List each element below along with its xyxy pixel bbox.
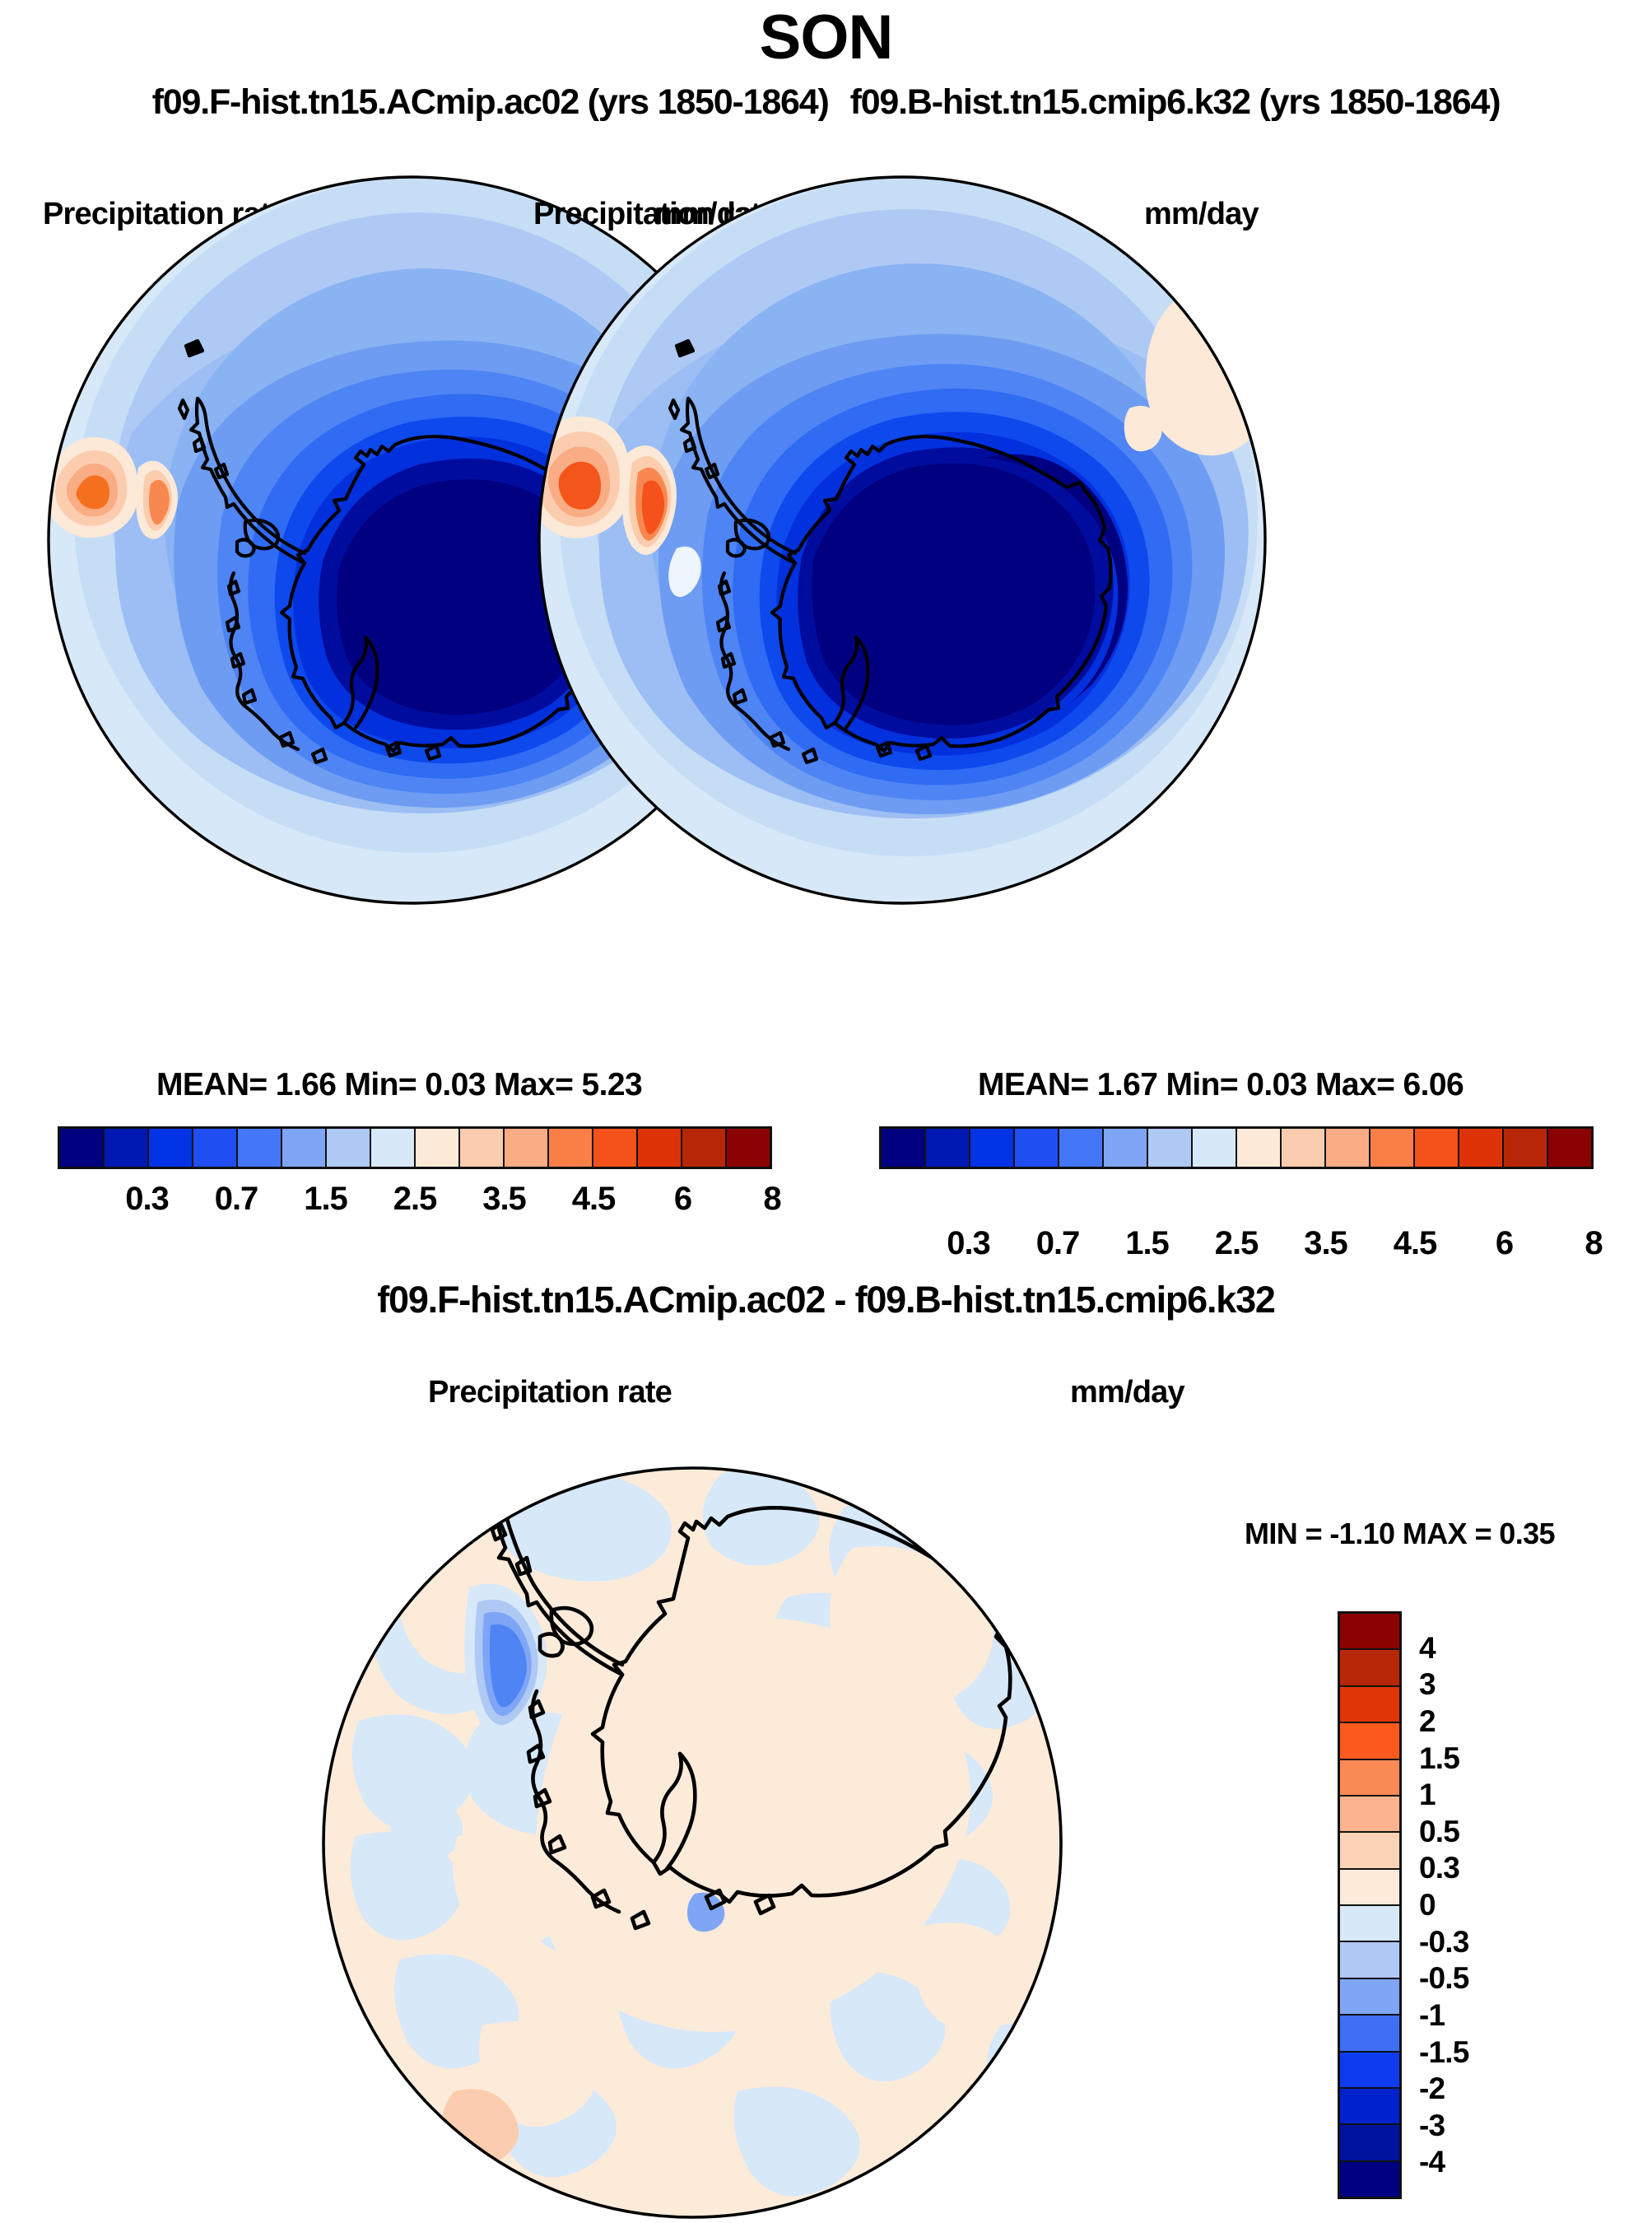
colorbar-cell bbox=[1340, 1942, 1399, 1978]
colorbar-cell bbox=[638, 1129, 682, 1167]
colorbar-tick-label: 4 bbox=[1419, 1631, 1436, 1666]
colorbar-cell bbox=[1340, 2162, 1399, 2197]
colorbar-cell bbox=[1340, 1614, 1399, 1650]
colorbar-tick-label: 0.7 bbox=[215, 1181, 258, 1218]
colorbar-cell bbox=[1340, 2016, 1399, 2052]
right-panel-stats: MEAN= 1.67 Min= 0.03 Max= 6.06 bbox=[846, 1067, 1595, 1103]
colorbar-cell bbox=[1340, 1650, 1399, 1686]
colorbar-cell bbox=[549, 1129, 593, 1167]
colorbar-cell bbox=[1415, 1129, 1459, 1167]
colorbar-cell bbox=[416, 1129, 460, 1167]
right-colorbar[interactable] bbox=[879, 1126, 1594, 1169]
colorbar-cell bbox=[371, 1129, 416, 1167]
colorbar-tick-label: 0.7 bbox=[1036, 1225, 1080, 1262]
colorbar-cell bbox=[1459, 1129, 1504, 1167]
colorbar-cell bbox=[327, 1129, 371, 1167]
colorbar-tick-label: 8 bbox=[1585, 1225, 1602, 1262]
colorbar-cell bbox=[1340, 1760, 1399, 1797]
colorbar-cell bbox=[1504, 1129, 1548, 1167]
difference-colorbar[interactable] bbox=[1338, 1611, 1402, 2199]
colorbar-cell bbox=[105, 1129, 149, 1167]
colorbar-cell bbox=[1340, 1723, 1399, 1759]
colorbar-tick-label: -1.5 bbox=[1419, 2035, 1469, 2070]
difference-colorbar-labels: 4321.510.50.30-0.3-0.5-1-1.5-2-3-4 bbox=[1419, 1611, 1584, 2199]
colorbar-cell bbox=[505, 1129, 549, 1167]
colorbar-tick-label: 2.5 bbox=[393, 1181, 437, 1218]
colorbar-cell bbox=[1340, 1979, 1399, 2016]
difference-title: f09.F-hist.tn15.ACmip.ac02 - f09.B-hist.… bbox=[0, 1279, 1652, 1321]
colorbar-cell bbox=[1340, 2125, 1399, 2161]
diff-minmax-label: MIN = -1.10 MAX = 0.35 bbox=[1245, 1517, 1555, 1551]
colorbar-tick-label: 2 bbox=[1419, 1704, 1436, 1739]
colorbar-cell bbox=[149, 1129, 193, 1167]
colorbar-cell bbox=[1282, 1129, 1326, 1167]
left-panel-stats: MEAN= 1.66 Min= 0.03 Max= 5.23 bbox=[25, 1067, 774, 1103]
colorbar-cell bbox=[882, 1129, 926, 1167]
colorbar-tick-label: 0.3 bbox=[947, 1225, 990, 1262]
diff-panel-units-label: mm/day bbox=[1070, 1375, 1184, 1410]
colorbar-cell bbox=[60, 1129, 105, 1167]
colorbar-cell bbox=[1059, 1129, 1104, 1167]
colorbar-tick-label: 8 bbox=[763, 1181, 780, 1218]
colorbar-tick-label: 4.5 bbox=[572, 1181, 616, 1218]
colorbar-cell bbox=[1340, 1870, 1399, 1906]
colorbar-tick-label: 0.5 bbox=[1419, 1815, 1459, 1849]
case-title-left: f09.F-hist.tn15.ACmip.ac02 (yrs 1850-186… bbox=[152, 82, 829, 123]
colorbar-tick-label: -3 bbox=[1419, 2109, 1445, 2143]
colorbar-cell bbox=[238, 1129, 282, 1167]
colorbar-tick-label: 1.5 bbox=[304, 1181, 347, 1218]
colorbar-cell bbox=[1326, 1129, 1370, 1167]
colorbar-cell bbox=[1015, 1129, 1059, 1167]
colorbar-cell bbox=[1340, 1833, 1399, 1869]
colorbar-cell bbox=[193, 1129, 238, 1167]
colorbar-cell bbox=[1370, 1129, 1415, 1167]
colorbar-tick-label: 0.3 bbox=[1419, 1851, 1459, 1885]
colorbar-tick-label: 1 bbox=[1419, 1778, 1436, 1812]
diff-panel-variable-label: Precipitation rate bbox=[428, 1375, 672, 1410]
colorbar-tick-label: 4.5 bbox=[1394, 1225, 1437, 1262]
colorbar-tick-label: 1.5 bbox=[1125, 1225, 1169, 1262]
right-map bbox=[524, 161, 1281, 919]
colorbar-cell bbox=[1340, 2053, 1399, 2089]
left-colorbar-labels: 0.30.71.52.53.54.568 bbox=[58, 1181, 772, 1225]
difference-map bbox=[277, 1449, 1108, 2223]
colorbar-cell bbox=[282, 1129, 327, 1167]
colorbar-cell bbox=[682, 1129, 727, 1167]
case-title-right: f09.B-hist.tn15.cmip6.k32 (yrs 1850-1864… bbox=[850, 82, 1501, 123]
colorbar-tick-label: -0.5 bbox=[1419, 1961, 1469, 1996]
colorbar-tick-label: 0.3 bbox=[125, 1181, 169, 1218]
colorbar-cell bbox=[593, 1129, 638, 1167]
colorbar-tick-label: -2 bbox=[1419, 2072, 1445, 2106]
colorbar-cell bbox=[1340, 2089, 1399, 2125]
colorbar-tick-label: 1.5 bbox=[1419, 1741, 1459, 1776]
colorbar-cell bbox=[1104, 1129, 1148, 1167]
colorbar-tick-label: 6 bbox=[1496, 1225, 1513, 1262]
colorbar-cell bbox=[926, 1129, 970, 1167]
page-title: SON bbox=[0, 2, 1652, 73]
colorbar-cell bbox=[460, 1129, 505, 1167]
colorbar-cell bbox=[1237, 1129, 1282, 1167]
colorbar-tick-label: -0.3 bbox=[1419, 1925, 1469, 1960]
colorbar-tick-label: 6 bbox=[674, 1181, 691, 1218]
colorbar-cell bbox=[1340, 1906, 1399, 1942]
colorbar-tick-label: 3.5 bbox=[1304, 1225, 1347, 1262]
colorbar-cell bbox=[1340, 1687, 1399, 1723]
colorbar-tick-label: -1 bbox=[1419, 1998, 1445, 2033]
colorbar-cell bbox=[970, 1129, 1015, 1167]
colorbar-cell bbox=[1340, 1797, 1399, 1833]
colorbar-tick-label: 3 bbox=[1419, 1667, 1436, 1702]
right-colorbar-labels: 0.30.71.52.53.54.568 bbox=[879, 1225, 1594, 1270]
colorbar-cell bbox=[727, 1129, 770, 1167]
colorbar-tick-label: 2.5 bbox=[1215, 1225, 1259, 1262]
colorbar-cell bbox=[1148, 1129, 1193, 1167]
case-title-row: f09.F-hist.tn15.ACmip.ac02 (yrs 1850-186… bbox=[0, 82, 1652, 123]
colorbar-tick-label: -4 bbox=[1419, 2145, 1445, 2179]
colorbar-cell bbox=[1193, 1129, 1237, 1167]
colorbar-cell bbox=[1548, 1129, 1591, 1167]
colorbar-tick-label: 3.5 bbox=[482, 1181, 526, 1218]
left-colorbar[interactable] bbox=[58, 1126, 772, 1169]
colorbar-tick-label: 0 bbox=[1419, 1888, 1436, 1922]
